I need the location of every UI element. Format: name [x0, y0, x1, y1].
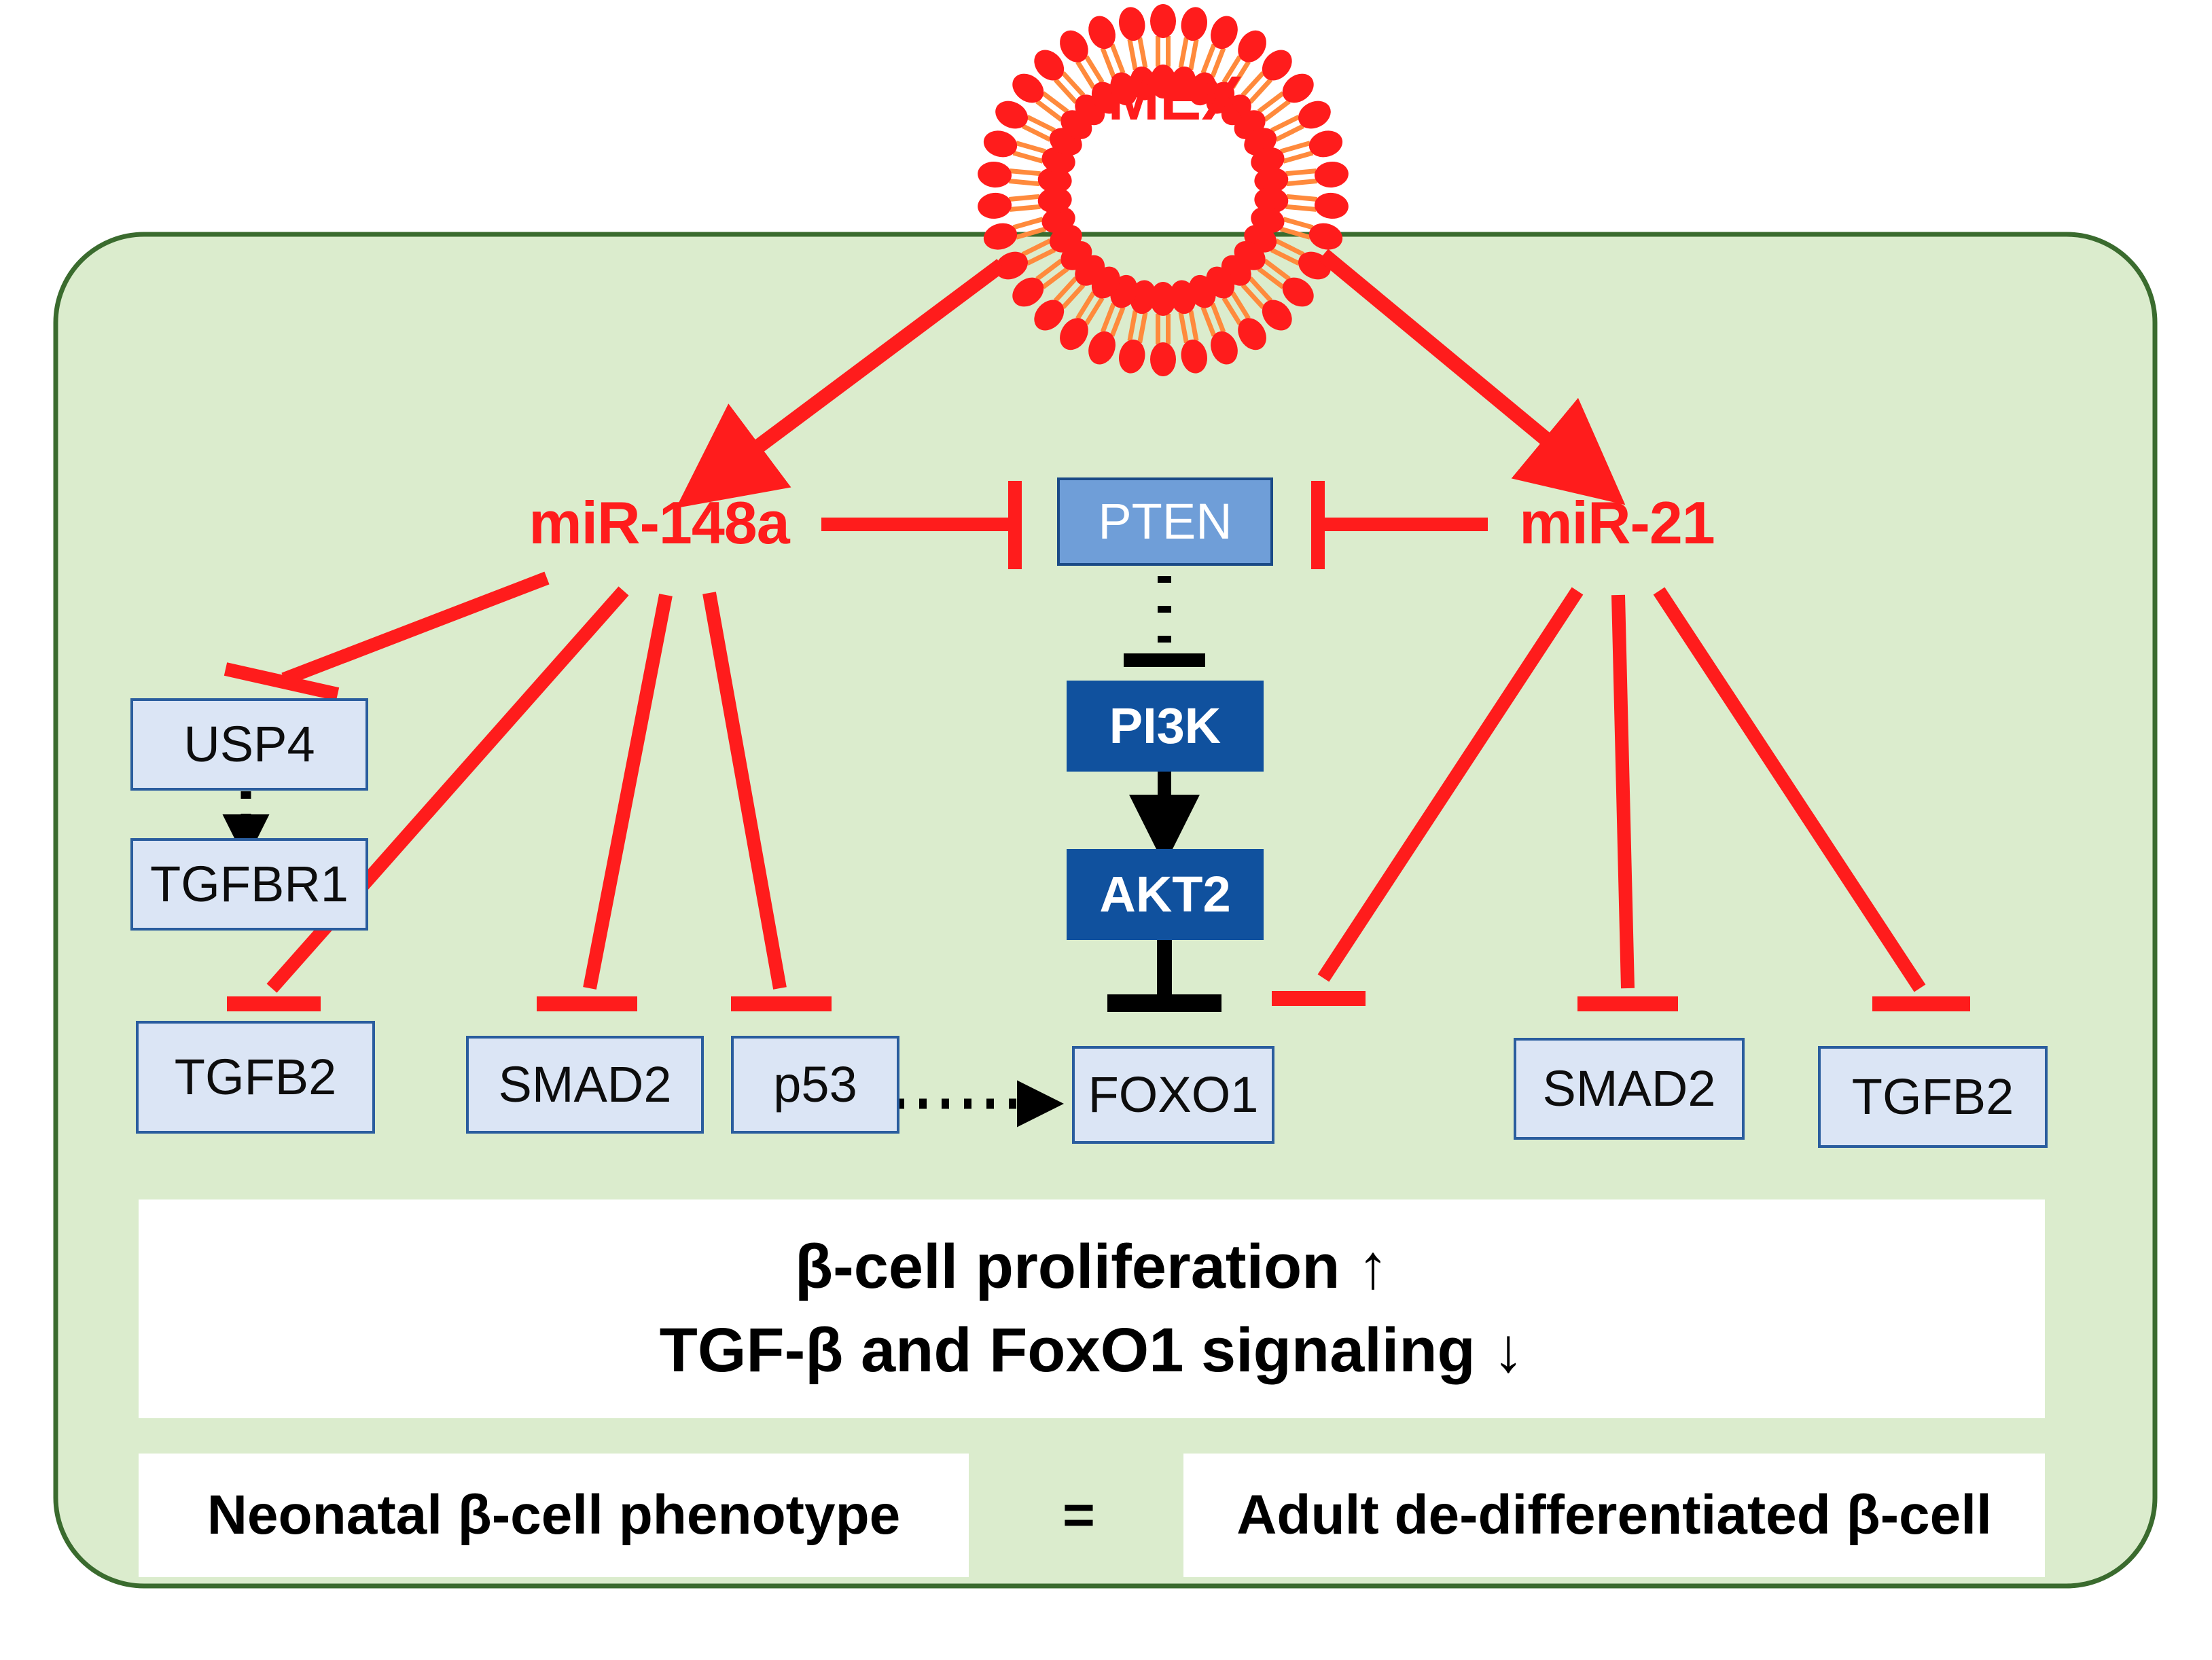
node-pten[interactable]: PTEN [1057, 477, 1273, 566]
node-usp4[interactable]: USP4 [130, 698, 368, 791]
node-akt2[interactable]: AKT2 [1067, 849, 1264, 940]
equivalence-left-panel: Neonatal β-cell phenotype [139, 1454, 969, 1577]
node-smad2-left[interactable]: SMAD2 [466, 1036, 704, 1134]
node-foxo1[interactable]: FOXO1 [1072, 1046, 1274, 1144]
mirna-mir148a[interactable]: miR-148a [516, 486, 802, 560]
outcome-line-1: β-cell proliferation ↑ [795, 1234, 1389, 1300]
node-p53[interactable]: p53 [731, 1036, 899, 1134]
outcome-line-2: TGF-β and FoxO1 signaling ↓ [660, 1318, 1524, 1384]
node-tgfb2-left[interactable]: TGFB2 [136, 1021, 375, 1134]
node-smad2-right[interactable]: SMAD2 [1514, 1038, 1745, 1140]
equivalence-operator: = [1038, 1454, 1120, 1577]
node-tgfb2-right[interactable]: TGFB2 [1818, 1046, 2048, 1148]
node-tgfbr1[interactable]: TGFBR1 [130, 838, 368, 931]
mirna-mir21[interactable]: miR-21 [1495, 486, 1739, 560]
equivalence-right-panel: Adult de-differentiated β-cell [1183, 1454, 2045, 1577]
outcome-panel: β-cell proliferation ↑ TGF-β and FoxO1 s… [139, 1199, 2045, 1418]
figure-canvas: MEX miR-148a miR-21 PTEN PI3K AKT2 USP4 … [0, 0, 2212, 1660]
node-pi3k[interactable]: PI3K [1067, 681, 1264, 772]
exosome-label: MEX [1080, 61, 1270, 136]
